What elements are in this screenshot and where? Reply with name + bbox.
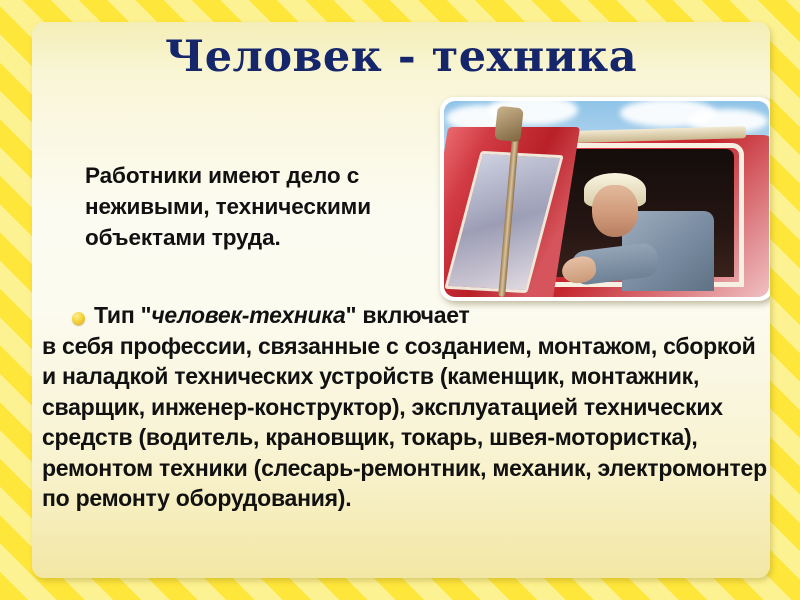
slide-root: Человек - техника [0,0,800,600]
photo-image [444,101,769,297]
page-title: Человек - техника [32,32,770,82]
bullet-lead-text: Тип " [94,302,151,328]
bullet-list-item: Тип "человек-техника" включает в себя пр… [42,300,768,514]
truck-driver-photo [440,97,770,301]
bullet-lead-close: " включает [346,302,470,328]
bullet-emphasis-text: человек-техника [151,302,345,328]
intro-paragraph: Работники имеют дело с неживыми, техниче… [85,160,485,253]
bullet-paragraph: Тип "человек-техника" включает в себя пр… [94,300,768,514]
driver-head [592,185,638,237]
slide-content-panel: Человек - техника [32,22,770,578]
truck-mirror-head [494,106,523,143]
bullet-rest-text: в себя профессии, связанные с созданием,… [42,331,768,514]
bullet-dot-icon [72,312,85,325]
